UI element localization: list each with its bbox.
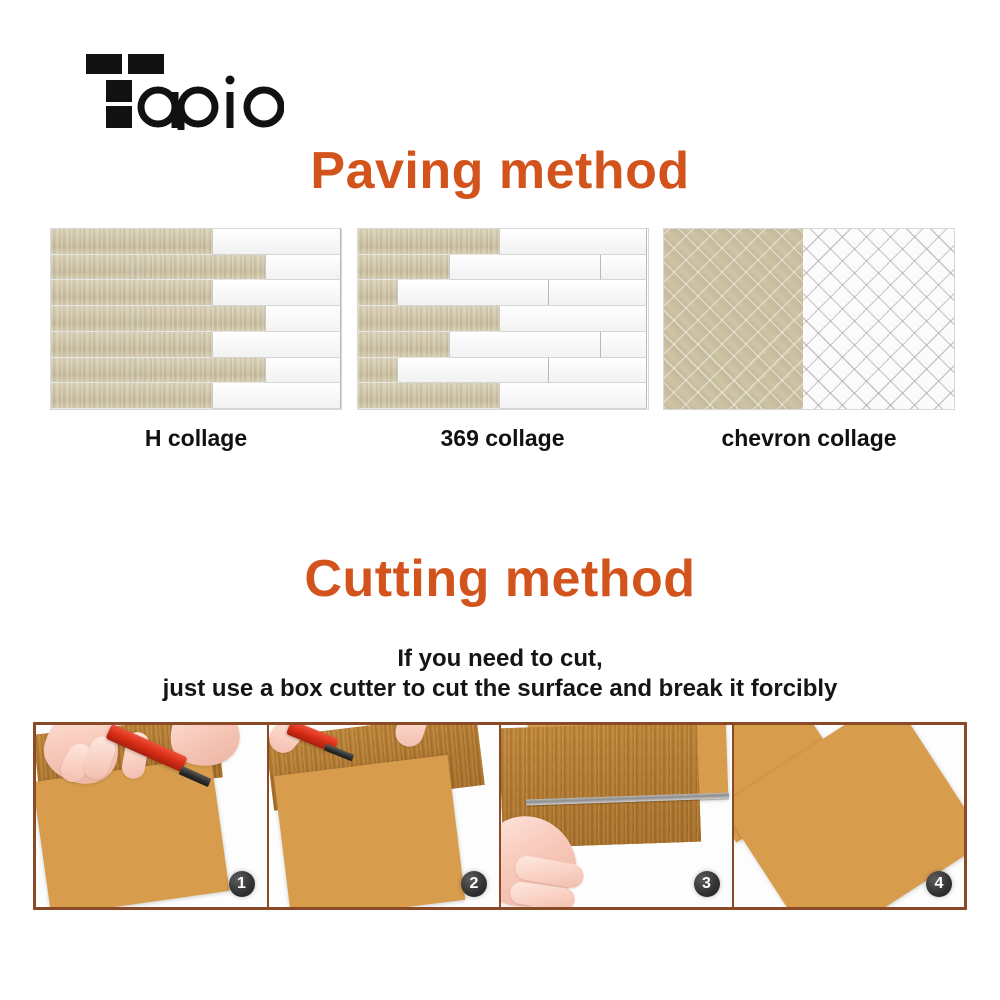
h-collage-pattern	[51, 229, 341, 409]
plank-row	[358, 280, 648, 306]
plank-row	[358, 229, 648, 255]
step-number-badge: 2	[461, 871, 487, 897]
paving-panel-369-collage	[357, 228, 649, 410]
paving-label-chevron-collage: chevron collage	[663, 424, 955, 452]
step-number-badge: 1	[229, 871, 255, 897]
paving-label-369-collage: 369 collage	[357, 424, 649, 452]
chevron-collage-pattern	[664, 229, 954, 409]
plank-row	[51, 332, 341, 358]
step-number-badge: 4	[926, 871, 952, 897]
paving-method-title: Paving method	[0, 140, 1000, 202]
paving-panel-chevron-collage	[663, 228, 955, 410]
cutting-description-line-1: If you need to cut,	[0, 644, 1000, 674]
369-collage-pattern	[358, 229, 648, 409]
paving-label-h-collage: H collage	[50, 424, 342, 452]
plank-row	[51, 306, 341, 332]
cutting-step-photo-1: 1	[36, 725, 269, 907]
cutting-step-photo-2: 2	[269, 725, 502, 907]
cutting-method-title: Cutting method	[0, 548, 1000, 610]
plank-row	[51, 255, 341, 281]
plank-row	[51, 358, 341, 384]
plank-row	[51, 280, 341, 306]
plank-row	[51, 383, 341, 409]
plank-row	[358, 332, 648, 358]
plank-row	[358, 358, 648, 384]
chevron-wood-half	[664, 229, 803, 409]
paving-pattern-row	[50, 228, 955, 410]
cutting-description-line-2: just use a box cutter to cut the surface…	[0, 674, 1000, 704]
chevron-white-half	[803, 229, 954, 409]
step-number-badge: 3	[694, 871, 720, 897]
plank-row	[358, 255, 648, 281]
plank-row	[358, 383, 648, 409]
tapio-logo-icon	[84, 52, 284, 132]
paving-label-row: H collage 369 collage chevron collage	[50, 424, 955, 452]
brand-logo	[84, 52, 284, 132]
plank-row	[51, 229, 341, 255]
cutting-step-photo-3: 3	[501, 725, 734, 907]
cutting-step-photo-4: 4	[734, 725, 965, 907]
cutting-steps-photo-strip: 1 2 3 4	[33, 722, 967, 910]
paving-panel-h-collage	[50, 228, 342, 410]
plank-being-cut	[274, 755, 466, 907]
plank-row	[358, 306, 648, 332]
